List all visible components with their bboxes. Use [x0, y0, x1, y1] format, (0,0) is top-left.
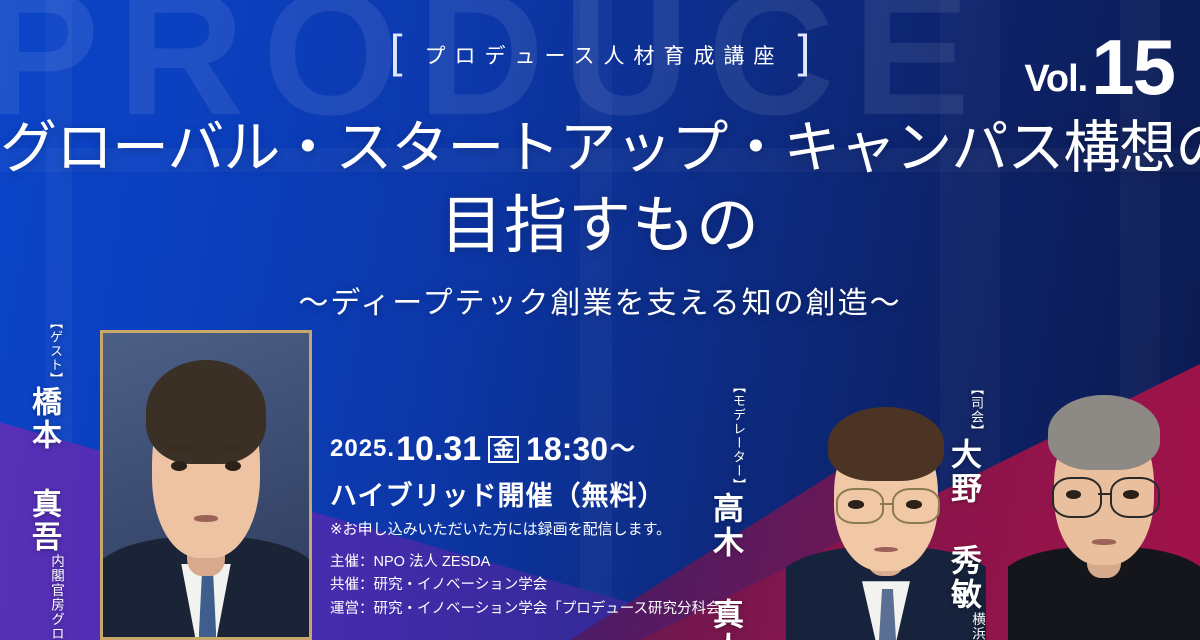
organizer-line: 共催：研究・イノベーション学会 [330, 574, 690, 597]
guest-name: 橋本 真吾 [21, 386, 65, 554]
portrait-mouth [1092, 539, 1115, 545]
portrait-mouth [194, 515, 219, 522]
event-poster: PRODUCE [プロデュース人材育成講座] Vol. 15 グローバル・スター… [0, 0, 1200, 640]
guest-portrait-frame [100, 330, 312, 640]
guest-name-block: 【ゲスト】 橋本 真吾 内閣官房グローバル・スタートアップ・キャンパス構想推進室… [18, 316, 65, 616]
portrait-brow [220, 445, 243, 451]
event-info-block: 2025. 10.31 金 18:30 〜 ハイブリッド開催（無料） ※お申し込… [330, 432, 690, 621]
volume-badge: Vol. 15 [1024, 28, 1174, 106]
event-format: ハイブリッド開催（無料） [330, 474, 690, 513]
mc-name-block: 【司会】 大野 秀敏 横浜国立大学 総合学術高等研究院 特任准教授 [938, 382, 986, 582]
portrait-hair [146, 360, 265, 463]
mc-name: 大野 秀敏 [941, 438, 986, 612]
guest-affiliation: 内閣官房グローバル・スタートアップ・キャンパス構想推進室 [46, 554, 65, 640]
organizer-list: 主催：NPO 法人 ZESDA 共催：研究・イノベーション学会 運営：研究・イノ… [330, 551, 690, 621]
title-line-1: グローバル・スタートアップ・キャンパス構想の [0, 118, 1200, 180]
mc-portrait-image [1008, 382, 1200, 640]
event-year: 2025. [330, 437, 395, 461]
portrait-eye [906, 500, 922, 508]
portrait-hair [828, 407, 944, 481]
portrait-eye [848, 500, 864, 508]
mc-role-label: 【司会】 [967, 382, 986, 438]
volume-number: 15 [1091, 28, 1174, 106]
organizer-line: 運営：研究・イノベーション学会「プロデュース研究分科会」 [330, 598, 690, 621]
mc-affiliation: 横浜国立大学 総合学術高等研究院 [967, 612, 986, 640]
portrait-hair [1048, 395, 1159, 470]
series-kicker: [プロデュース人材育成講座] [0, 40, 1200, 70]
event-time-tilde: 〜 [610, 437, 635, 462]
portrait-brow [169, 445, 192, 451]
glasses-bridge-icon [880, 503, 892, 506]
portrait-eye [1123, 490, 1138, 499]
event-day-of-week-badge: 金 [488, 436, 519, 463]
portrait-eye [225, 461, 241, 471]
mc-portrait [1008, 382, 1200, 640]
title-subtitle: 〜ディープテック創業を支える知の創造〜 [0, 278, 1200, 322]
event-time: 18:30 [526, 433, 608, 465]
portrait-eye [1066, 490, 1081, 499]
event-month-day: 10.31 [396, 432, 481, 466]
moderator-name: 高木 真人 [703, 492, 748, 640]
glasses-bridge-icon [1098, 493, 1110, 496]
series-kicker-label: プロデュース人材育成講座 [425, 40, 784, 70]
guest-role-label: 【ゲスト】 [46, 316, 65, 386]
moderator-name-block: 【モデレーター】 高木 真人 一般社団法人研究・イノベーション学会 副会長 [700, 380, 748, 630]
event-datetime: 2025. 10.31 金 18:30 〜 [330, 432, 690, 466]
guest-portrait [103, 333, 309, 637]
title-line-2: 目指すもの [0, 192, 1200, 260]
volume-label: Vol. [1024, 60, 1087, 98]
event-note: ※お申し込みいただいた方には録画を配信します。 [330, 518, 690, 539]
moderator-role-label: 【モデレーター】 [729, 380, 748, 492]
organizer-line: 主催：NPO 法人 ZESDA [330, 551, 690, 574]
